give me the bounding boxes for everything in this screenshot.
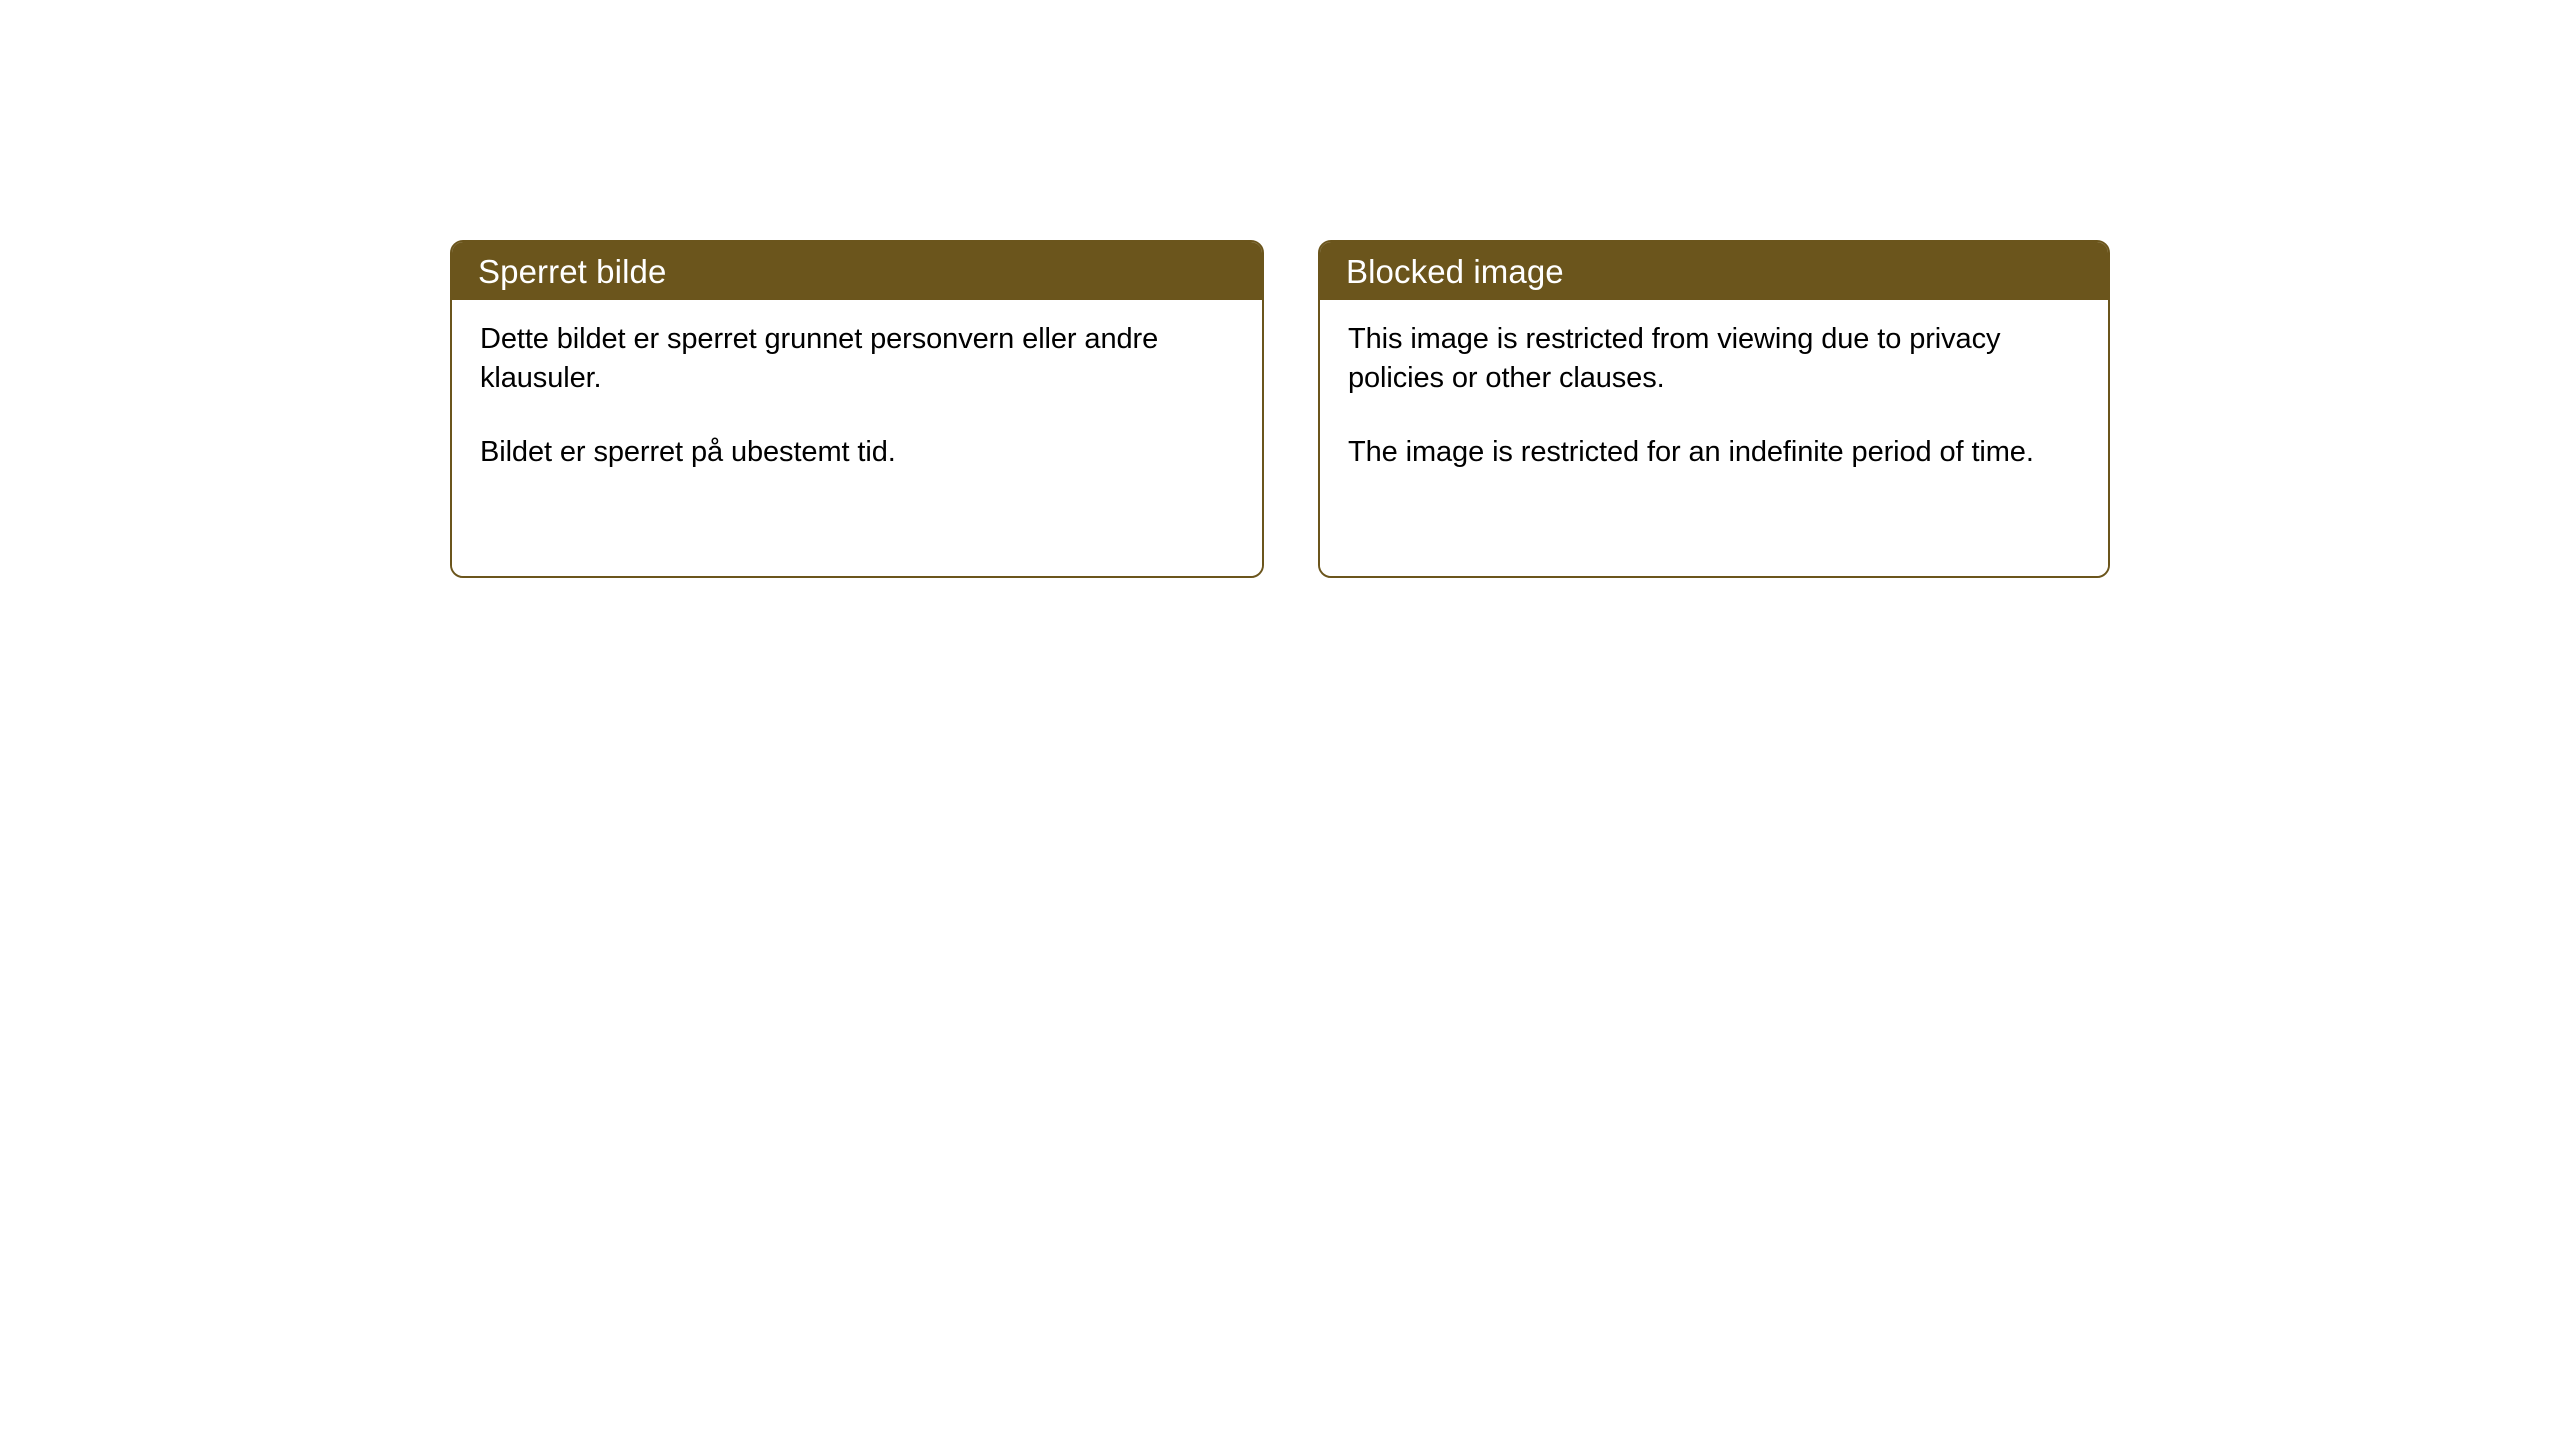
- notice-paragraph-duration-no: Bildet er sperret på ubestemt tid.: [480, 433, 1236, 472]
- notice-paragraph-reason-no: Dette bildet er sperret grunnet personve…: [480, 320, 1236, 397]
- blocked-image-notice-card-no: Sperret bilde Dette bildet er sperret gr…: [450, 240, 1264, 578]
- notice-card-header-en: Blocked image: [1320, 242, 2108, 300]
- notice-card-title-en: Blocked image: [1346, 255, 1564, 288]
- notice-card-header-no: Sperret bilde: [452, 242, 1262, 300]
- notice-card-body-no: Dette bildet er sperret grunnet personve…: [452, 300, 1262, 576]
- blocked-image-notice-card-en: Blocked image This image is restricted f…: [1318, 240, 2110, 578]
- notice-card-title-no: Sperret bilde: [478, 255, 666, 288]
- notice-card-body-en: This image is restricted from viewing du…: [1320, 300, 2108, 576]
- notice-card-row: Sperret bilde Dette bildet er sperret gr…: [450, 240, 2110, 578]
- notice-paragraph-duration-en: The image is restricted for an indefinit…: [1348, 433, 2082, 472]
- page-canvas: Sperret bilde Dette bildet er sperret gr…: [0, 0, 2560, 1440]
- notice-paragraph-reason-en: This image is restricted from viewing du…: [1348, 320, 2082, 397]
